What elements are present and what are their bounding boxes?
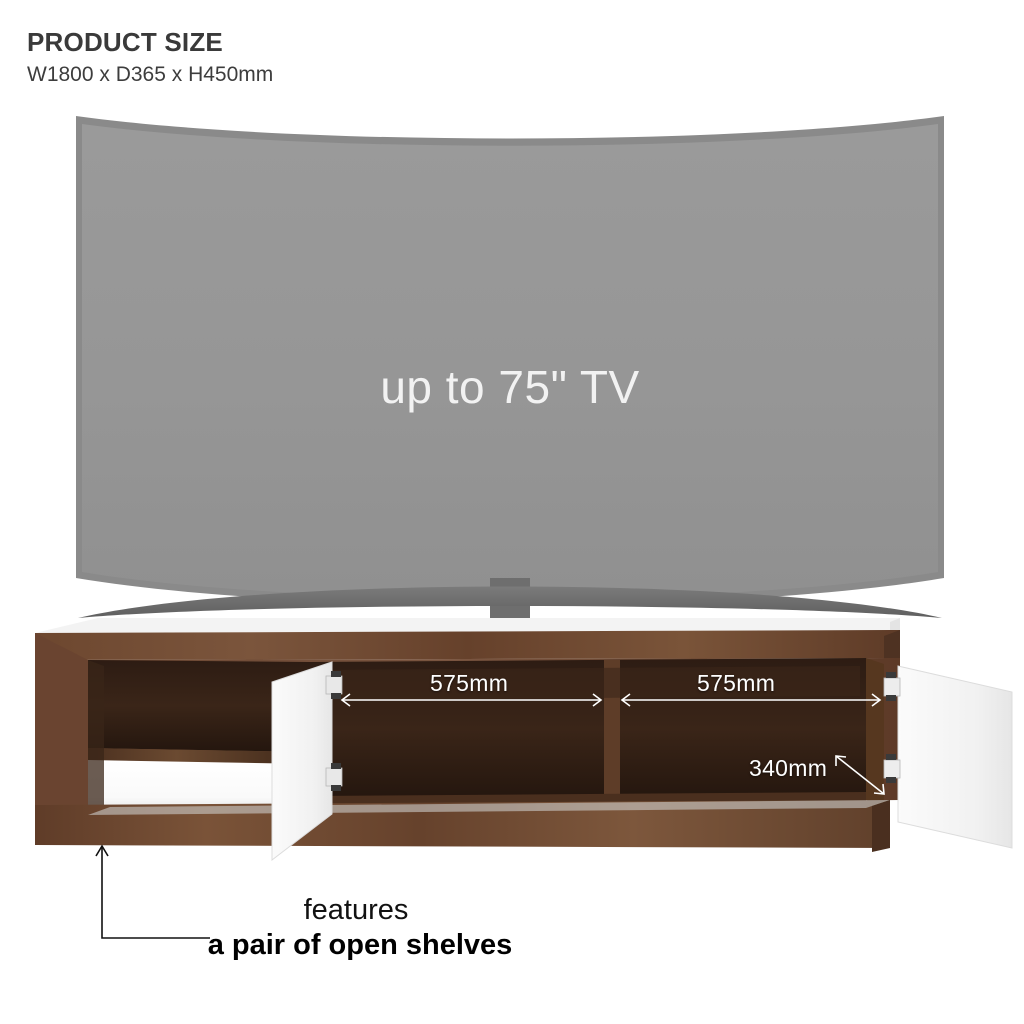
product-dimensions-text: W1800 x D365 x H450mm [27,63,273,86]
tv-screen-label: up to 75" TV [60,360,960,414]
page-title: PRODUCT SIZE [27,28,273,57]
header-block: PRODUCT SIZE W1800 x D365 x H450mm [27,28,273,86]
dimension-label-depth: 340mm [749,755,827,782]
cabinet-base-right-return [872,800,890,852]
callout-block: features a pair of open shelves [150,895,570,963]
dimension-label-left-width: 575mm [430,670,508,697]
cabinet-top-rail [35,630,900,660]
cabinet-cavity-back-band [320,666,860,700]
open-shelf-inner-divider [88,660,104,815]
callout-line-1: features [142,895,570,925]
product-size-diagram: PRODUCT SIZE W1800 x D365 x H450mm [0,0,1024,1024]
cabinet-right-door[interactable] [898,666,1012,848]
cabinet-right-jamb [866,658,884,805]
callout-line-2: a pair of open shelves [150,929,570,962]
dimension-label-right-width: 575mm [697,670,775,697]
cabinet-left-end-panel [35,633,88,815]
tv-illustration: up to 75" TV LG [60,108,960,628]
